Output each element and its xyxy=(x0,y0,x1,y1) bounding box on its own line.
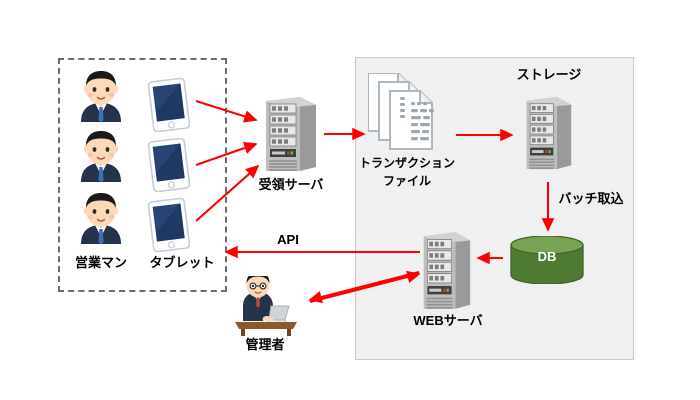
tablet-2-icon xyxy=(148,138,190,192)
sales-person-2-icon xyxy=(78,130,124,182)
receiving-server-icon xyxy=(262,93,318,175)
web-server-icon xyxy=(420,228,472,313)
label-receiving-server: 受領サーバ xyxy=(250,178,332,193)
label-transaction-file-2: ファイル xyxy=(352,175,462,189)
storage-server-icon xyxy=(523,93,573,173)
label-storage: ストレージ xyxy=(506,68,592,83)
tablet-1-icon xyxy=(148,78,190,132)
label-sales-person: 営業マン xyxy=(62,256,140,271)
sales-person-1-icon xyxy=(78,70,124,122)
label-tablet: タブレット xyxy=(142,256,222,271)
arrow-tablet2-to-receiving-server xyxy=(196,144,256,165)
transaction-files-icon xyxy=(368,73,440,153)
label-administrator: 管理者 xyxy=(232,338,298,353)
arrow-tablet1-to-receiving-server xyxy=(196,101,256,120)
arrow-web-server-to-administrator xyxy=(310,272,419,300)
arrow-administrator-to-web-server xyxy=(310,274,419,302)
label-api: API xyxy=(268,233,308,248)
administrator-icon xyxy=(229,276,301,336)
tablet-3-icon xyxy=(148,198,190,252)
label-transaction-file-1: トランザクション xyxy=(352,157,462,171)
label-batch-import: バッチ取込 xyxy=(549,192,633,207)
diagram-canvas: 営業マンタブレット受領サーバトランザクションファイルストレージバッチ取込DBWE… xyxy=(0,0,700,400)
sales-person-3-icon xyxy=(78,192,124,244)
arrow-tablet3-to-receiving-server xyxy=(196,166,258,221)
label-web-server: WEBサーバ xyxy=(400,314,496,329)
label-db: DB xyxy=(509,250,585,265)
